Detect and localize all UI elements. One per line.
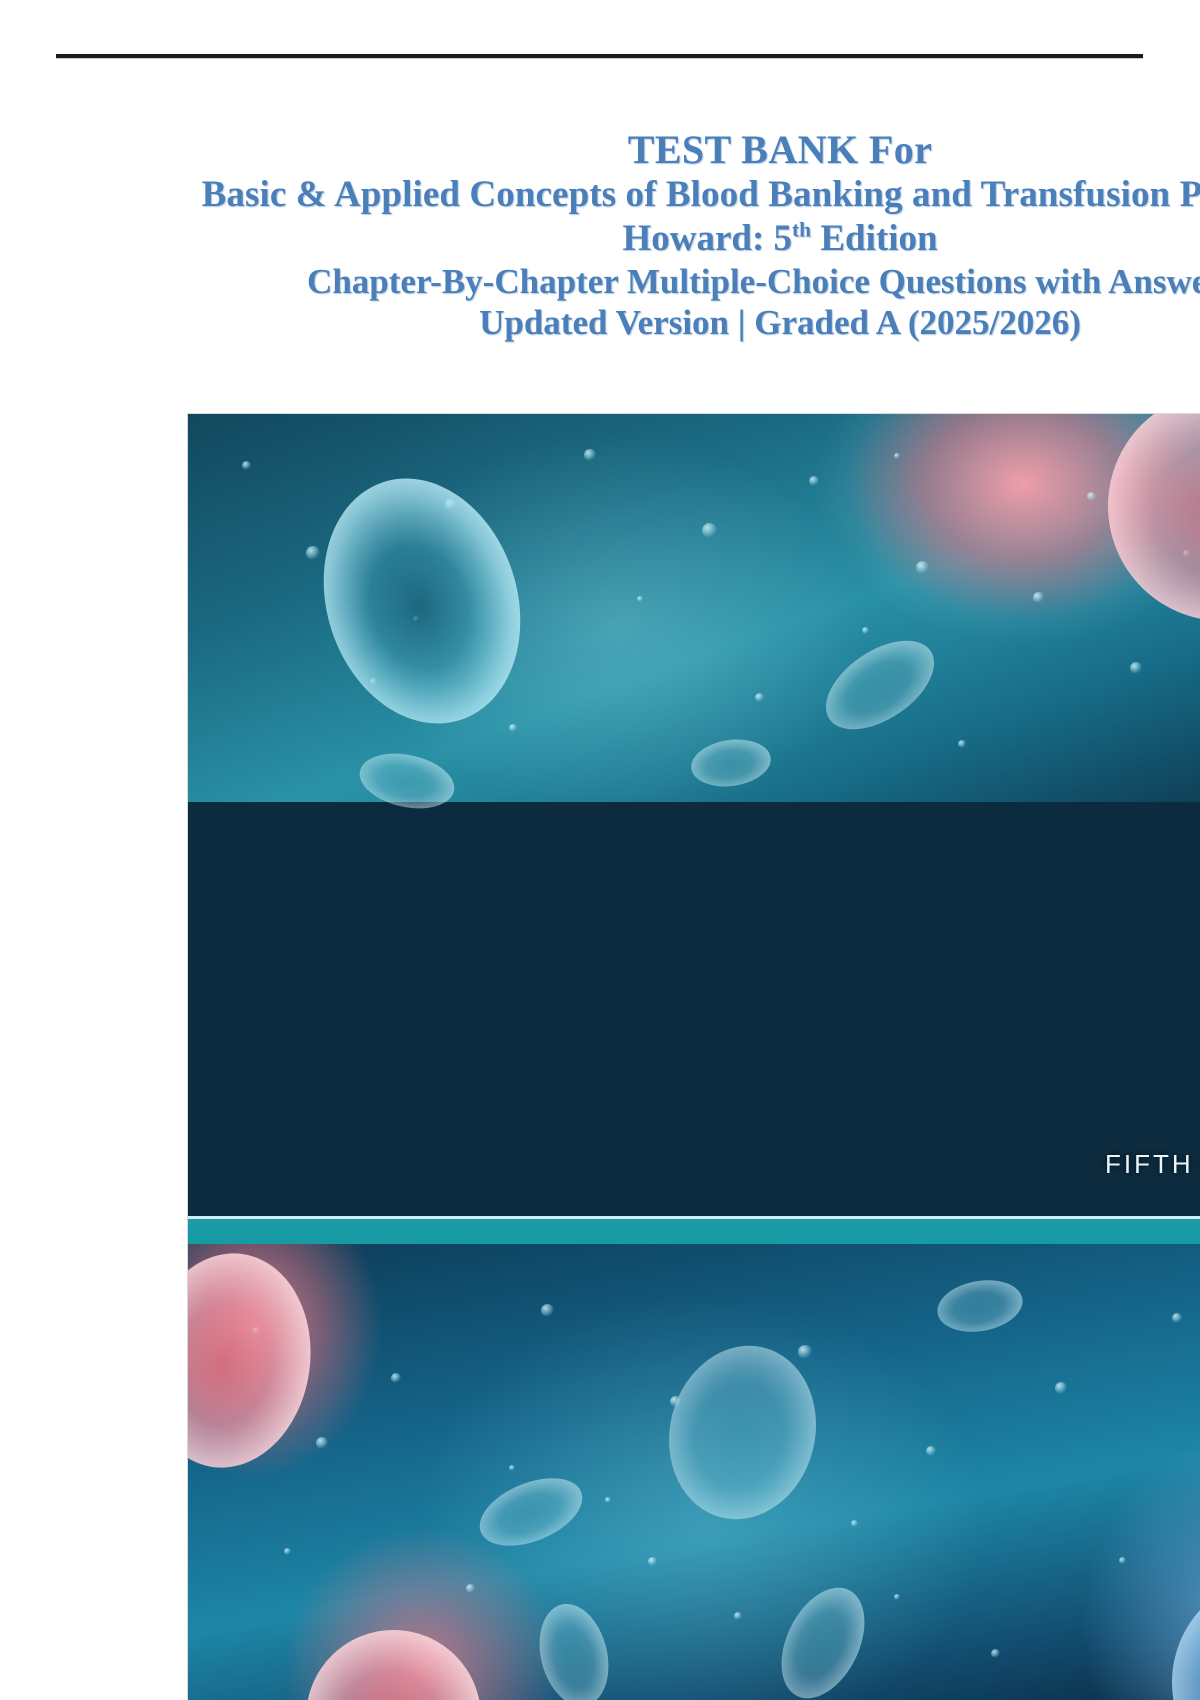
red-blood-cell-shape (1108, 414, 1200, 621)
heading-line-5: Updated Version | Graded A (2025/2026) (0, 302, 1200, 343)
red-blood-cell-shape (355, 746, 460, 817)
red-blood-cell-shape (293, 453, 551, 749)
red-blood-cell-shape (306, 1630, 481, 1700)
red-blood-cell-shape (1172, 1575, 1200, 1700)
heading-line-2: Basic & Applied Concepts of Blood Bankin… (0, 173, 1200, 217)
red-blood-cell-shape (529, 1596, 618, 1700)
document-heading: TEST BANK For Basic & Applied Concepts o… (0, 126, 1200, 343)
heading-line-1: TEST BANK For (0, 126, 1200, 173)
heading-line-3: Howard: 5th Edition (0, 217, 1200, 261)
red-blood-cell-shape (933, 1274, 1026, 1338)
red-blood-cell-shape (188, 1243, 324, 1479)
cover-photo-bottom: Paula R. Howard (188, 1244, 1200, 1700)
fifth-edition-badge: FIFTH EDITION (1105, 1149, 1200, 1180)
heading-line-4: Chapter-By-Chapter Multiple-Choice Quest… (0, 261, 1200, 302)
book-cover-image: FIFTH EDITION Basic & Applied Concepts o… (188, 414, 1200, 1700)
red-blood-cell-shape (765, 1575, 881, 1700)
header-divider-rule (56, 54, 1143, 58)
red-blood-cell-shape (650, 1330, 833, 1535)
heading-line-3-pre: Howard: 5 (622, 218, 792, 259)
red-blood-cell-shape (470, 1465, 592, 1559)
heading-line-3-post: Edition (811, 218, 937, 259)
heading-line-3-ordinal: th (792, 218, 811, 242)
red-blood-cell-shape (811, 622, 950, 747)
cover-photo-top (188, 414, 1200, 802)
red-blood-cell-shape (688, 735, 774, 792)
document-page: TEST BANK For Basic & Applied Concepts o… (0, 0, 1200, 1700)
